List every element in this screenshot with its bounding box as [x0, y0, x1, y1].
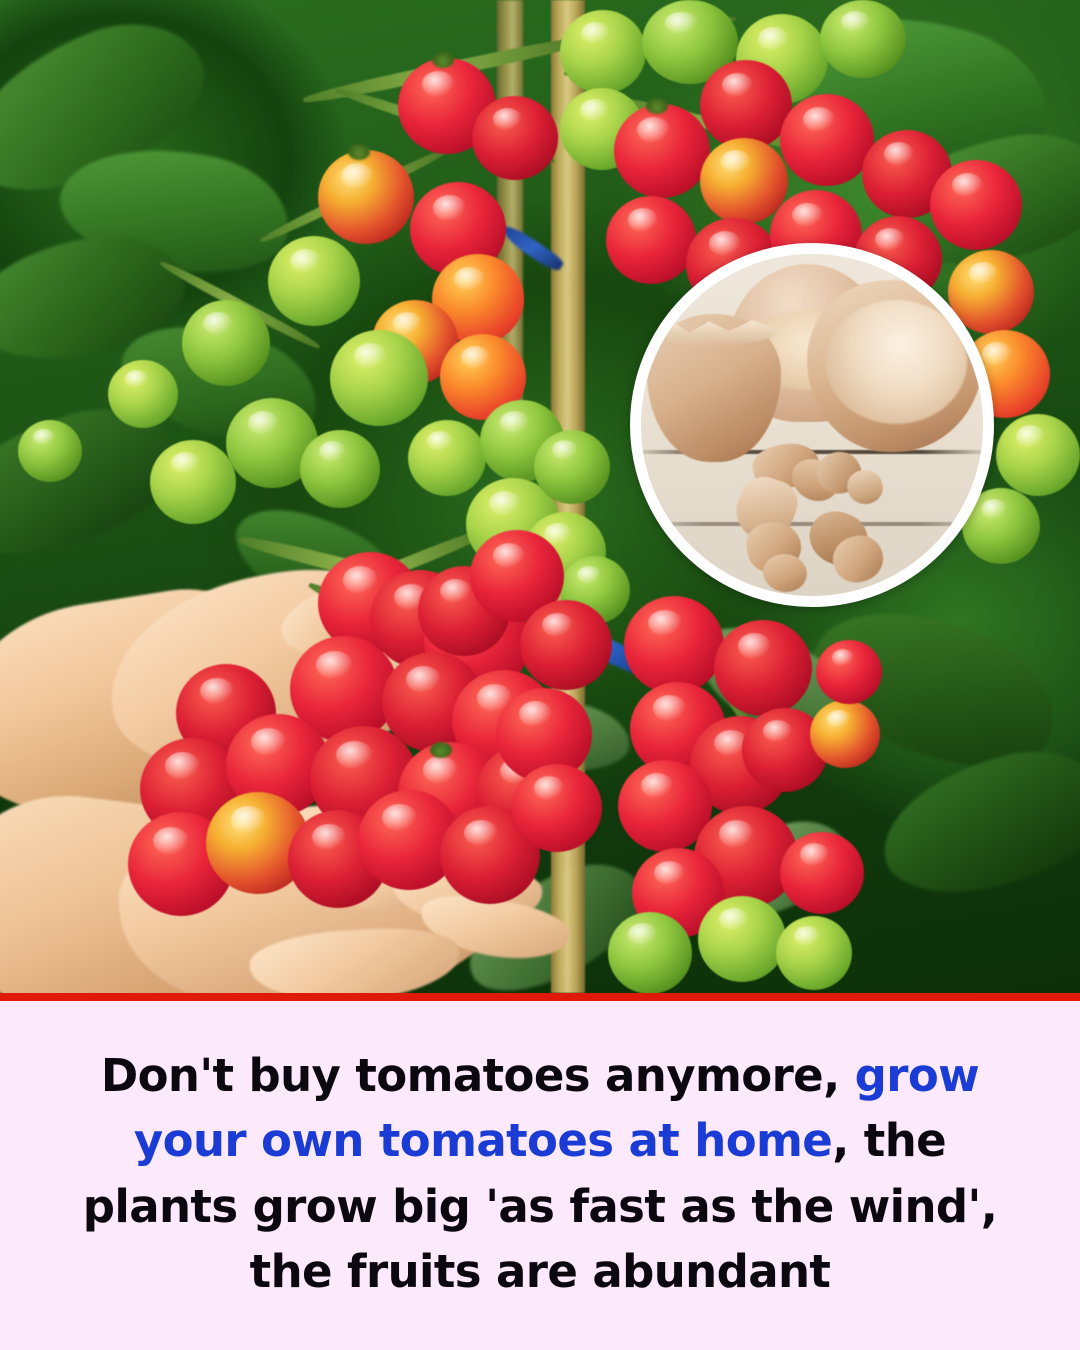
caption-text: Don't buy tomatoes anymore, grow your ow… [65, 1043, 1015, 1308]
tomato-green [268, 236, 360, 326]
tomato-green [108, 360, 178, 428]
red-divider-bar [0, 993, 1080, 1001]
tomato-green [300, 430, 380, 508]
tomato-green [608, 912, 692, 993]
tomato-turning [810, 700, 880, 768]
eggshell-inset-photo [630, 243, 994, 607]
tomato-green [996, 414, 1080, 496]
tomato-red-held [512, 764, 602, 852]
tomato-red [816, 640, 882, 704]
tomato-red [472, 96, 558, 180]
tomato-red-held [520, 600, 612, 690]
tomato-green [776, 916, 852, 990]
caption-panel: Don't buy tomatoes anymore, grow your ow… [0, 1001, 1080, 1350]
tomato-red [714, 620, 812, 716]
tomato-red [780, 832, 864, 914]
tomato-red [700, 60, 792, 150]
tomato-red [624, 596, 724, 694]
tomato-calyx [430, 742, 452, 758]
tomato-green [408, 420, 486, 496]
inset-photo-content [641, 254, 983, 596]
tomato-red [780, 94, 874, 186]
tomato-turning [700, 138, 788, 224]
poster-root: Don't buy tomatoes anymore, grow your ow… [0, 0, 1080, 1350]
tomato-green [820, 0, 906, 78]
tomato-calyx [432, 52, 454, 68]
tomato-green [330, 330, 428, 426]
tomato-red [614, 104, 710, 198]
tomato-calyx [348, 144, 370, 160]
tomato-green [150, 440, 236, 524]
tomato-green [18, 420, 82, 482]
tomato-turning [318, 150, 414, 244]
tomato-green [698, 896, 786, 982]
tomato-red [930, 160, 1022, 250]
caption-segment-1: Don't buy tomatoes anymore, [101, 1049, 855, 1102]
main-photo [0, 0, 1080, 993]
tomato-green [182, 300, 270, 386]
tomato-green [560, 10, 646, 94]
tomato-green [534, 430, 610, 504]
tomato-calyx [646, 98, 668, 114]
eggshell-interior [825, 300, 967, 424]
